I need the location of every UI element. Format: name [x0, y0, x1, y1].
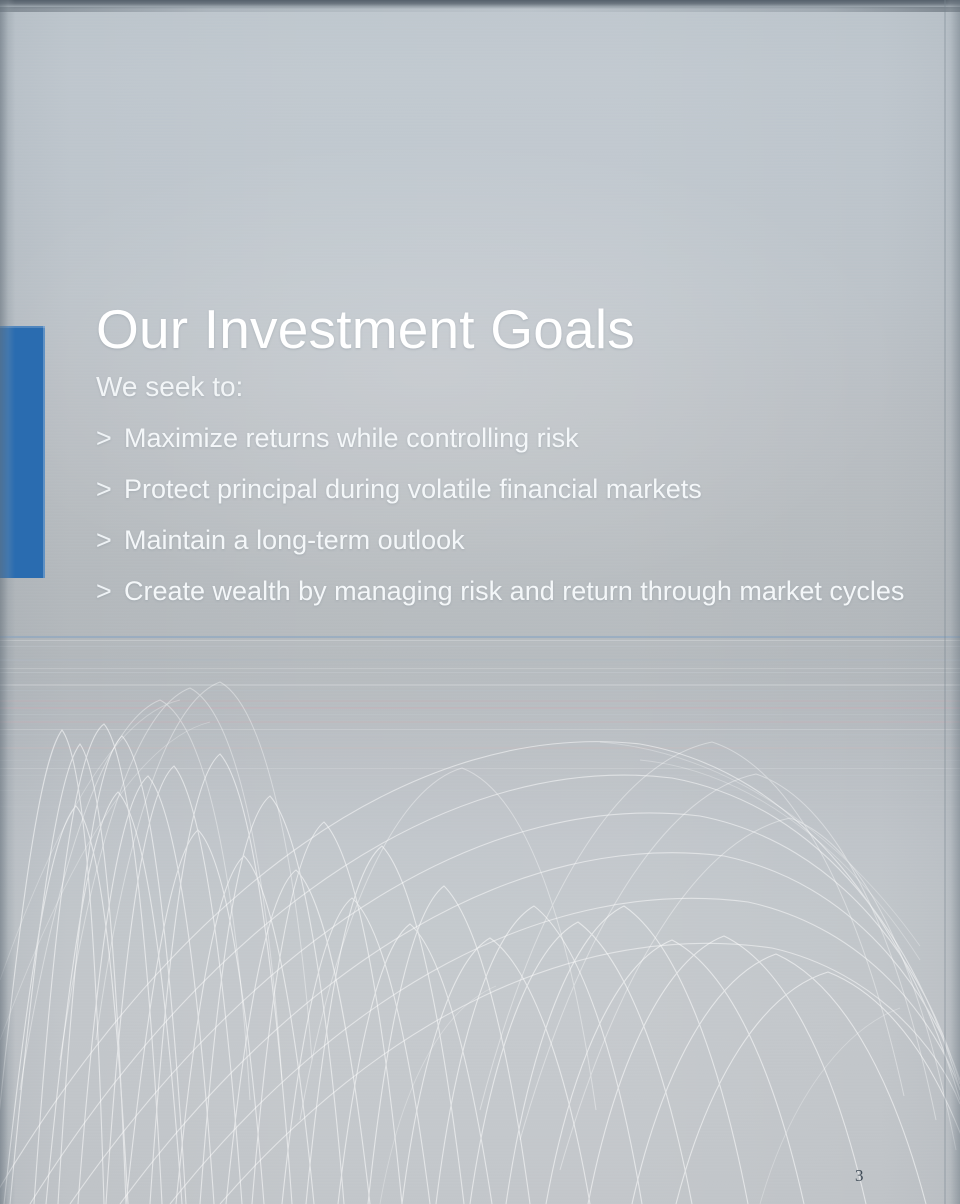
list-item: > Protect principal during volatile fina… — [96, 473, 926, 506]
document-page: Our Investment Goals We seek to: > Maxim… — [0, 0, 960, 1204]
list-item: > Maximize returns while controlling ris… — [96, 422, 926, 455]
goals-list: > Maximize returns while controlling ris… — [96, 422, 926, 608]
list-item: > Maintain a long-term outlook — [96, 524, 926, 557]
chevron-marker-icon: > — [96, 422, 124, 455]
chevron-marker-icon: > — [96, 473, 124, 506]
scan-edge-left — [0, 0, 15, 1204]
chevron-marker-icon: > — [96, 524, 124, 557]
lead-text: We seek to: — [96, 370, 926, 404]
list-item-label: Protect principal during volatile financ… — [124, 473, 702, 506]
list-item-label: Maximize returns while controlling risk — [124, 422, 579, 455]
scan-edge-right — [944, 0, 960, 1204]
scan-edge-top-secondary — [0, 7, 960, 12]
chevron-marker-icon: > — [96, 575, 124, 608]
list-item-label: Maintain a long-term outlook — [124, 524, 465, 557]
page-number: 3 — [855, 1166, 864, 1186]
list-item-label: Create wealth by managing risk and retur… — [124, 575, 904, 608]
list-item: > Create wealth by managing risk and ret… — [96, 575, 926, 608]
page-title: Our Investment Goals — [96, 300, 926, 358]
content-block: Our Investment Goals We seek to: > Maxim… — [96, 300, 926, 626]
